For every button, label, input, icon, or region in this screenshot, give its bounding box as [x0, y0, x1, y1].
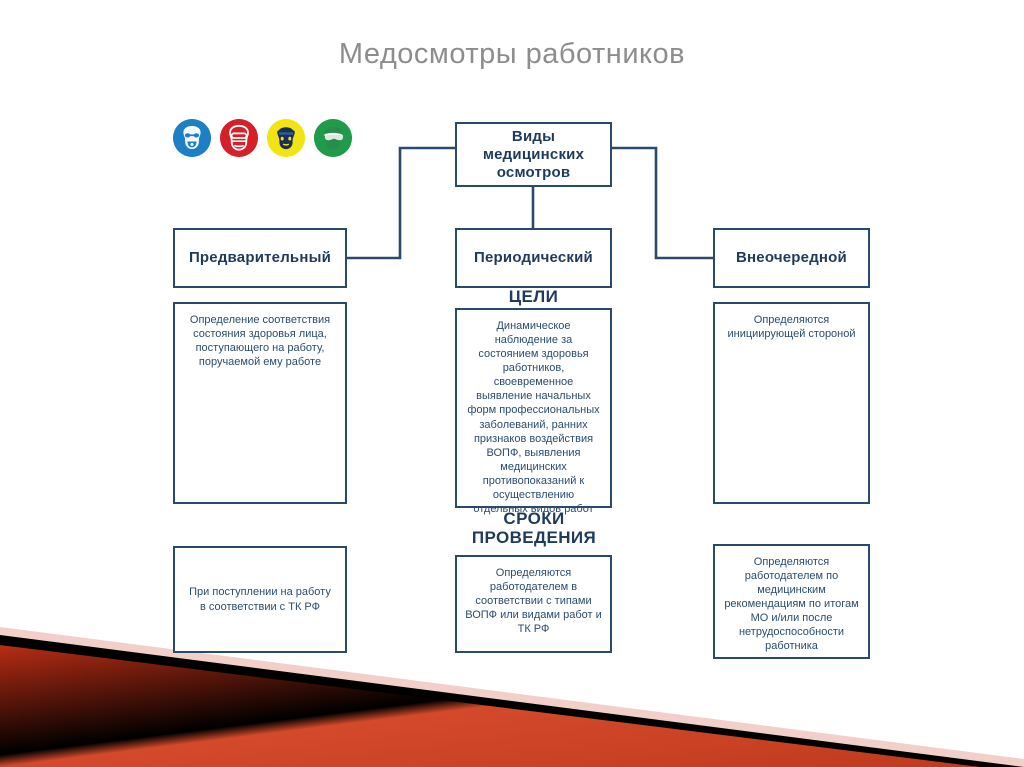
goal-box-preliminary: Определение соответствия состояния здоро…	[173, 302, 347, 504]
node-header-periodic: Периодический	[455, 228, 612, 288]
timing-box-periodic: Определяются работодателем в соответстви…	[455, 555, 612, 653]
node-header-extraordinary: Внеочередной	[713, 228, 870, 288]
goal-box-extraordinary: Определяются инициирующей стороной	[713, 302, 870, 504]
eye-protection-icon	[314, 119, 352, 157]
deco-red-wedge	[0, 645, 980, 767]
wire-root-to-extraordinary	[612, 148, 713, 258]
respirator-protection-icon	[173, 119, 211, 157]
section-label-timing-line2: ПРОВЕДЕНИЯ	[443, 529, 625, 548]
head-protection-icon	[267, 119, 305, 157]
goal-text: Определяются инициирующей стороной	[723, 313, 860, 341]
node-root-label: Виды медицинских осмотров	[465, 128, 602, 182]
timing-text: При поступлении на работу в соответствии…	[185, 585, 335, 613]
node-header-label: Периодический	[474, 249, 593, 267]
timing-text: Определяются работодателем в соответстви…	[465, 566, 602, 636]
node-header-label: Предварительный	[189, 249, 331, 267]
goal-box-periodic: Динамическое наблюдение за состоянием зд…	[455, 308, 612, 508]
timing-text: Определяются работодателем по медицински…	[723, 555, 860, 654]
wire-root-to-preliminary	[347, 148, 455, 258]
goal-text: Определение соответствия состояния здоро…	[183, 313, 337, 369]
section-label-timing: СРОКИ ПРОВЕДЕНИЯ	[443, 510, 625, 547]
timing-box-preliminary: При поступлении на работу в соответствии…	[173, 546, 347, 653]
goal-text: Динамическое наблюдение за состоянием зд…	[465, 319, 602, 516]
timing-box-extraordinary: Определяются работодателем по медицински…	[713, 544, 870, 659]
node-header-label: Внеочередной	[736, 249, 847, 267]
deco-black-band	[0, 635, 1024, 767]
face-shield-icon	[220, 119, 258, 157]
node-root: Виды медицинских осмотров	[455, 122, 612, 187]
slide-canvas: Медосмотры работников	[0, 0, 1024, 767]
section-label-timing-line1: СРОКИ	[443, 510, 625, 529]
ppe-icon-row	[173, 119, 352, 157]
section-label-goals: ЦЕЛИ	[455, 288, 612, 307]
page-title: Медосмотры работников	[0, 38, 1024, 71]
node-header-preliminary: Предварительный	[173, 228, 347, 288]
